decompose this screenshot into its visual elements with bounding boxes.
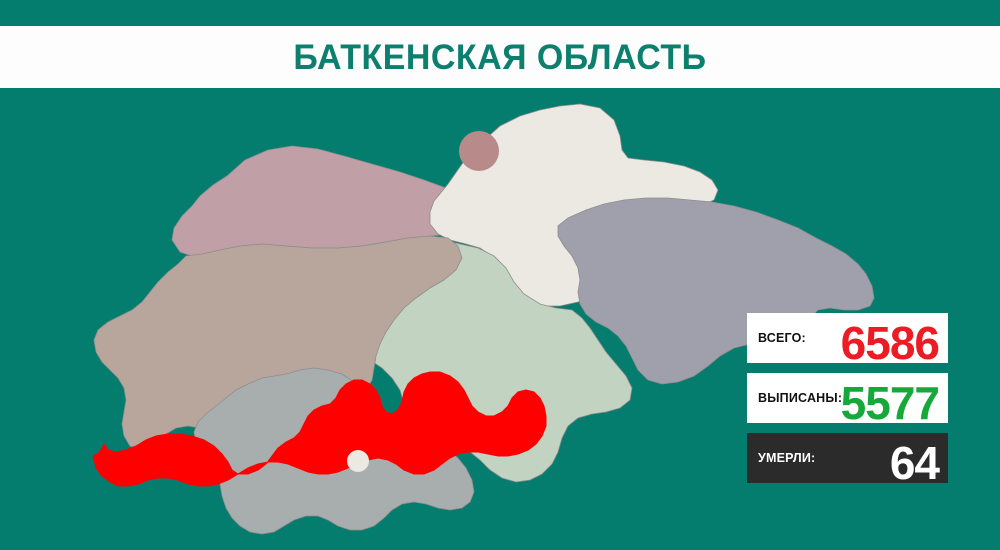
infographic-root: БАТКЕНСКАЯ ОБЛАСТЬ ВСЕГО: bbox=[0, 0, 1000, 550]
stat-label-total: ВСЕГО: bbox=[747, 331, 806, 345]
top-teal-bar bbox=[0, 0, 1000, 26]
stat-label-recovered: ВЫПИСАНЫ: bbox=[747, 391, 842, 405]
bishkek-marker[interactable] bbox=[459, 131, 499, 171]
stat-value-deaths: 64 bbox=[890, 440, 939, 486]
stat-row-deaths: УМЕРЛИ: 64 bbox=[747, 433, 948, 483]
statistics-panel: ВСЕГО: 6586 ВЫПИСАНЫ: 5577 УМЕРЛИ: 64 bbox=[747, 313, 948, 483]
osh-city-marker[interactable] bbox=[347, 450, 369, 472]
stat-value-total: 6586 bbox=[841, 320, 939, 366]
title-band: БАТКЕНСКАЯ ОБЛАСТЬ bbox=[0, 26, 1000, 88]
stat-row-total: ВСЕГО: 6586 bbox=[747, 313, 948, 363]
stat-label-deaths: УМЕРЛИ: bbox=[747, 451, 815, 465]
page-title: БАТКЕНСКАЯ ОБЛАСТЬ bbox=[293, 40, 706, 75]
stat-row-recovered: ВЫПИСАНЫ: 5577 bbox=[747, 373, 948, 423]
stat-value-recovered: 5577 bbox=[841, 380, 939, 426]
